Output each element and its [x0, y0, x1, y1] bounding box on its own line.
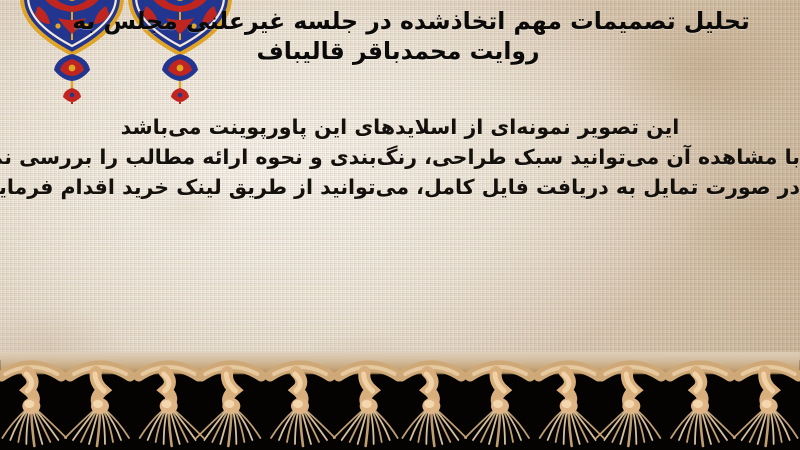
title-line-1: تحلیل تصمیمات مهم اتخاذشده در جلسه غیرعل…	[2, 6, 800, 36]
slide-canvas: تحلیل تصمیمات مهم اتخاذشده در جلسه غیرعل…	[0, 0, 800, 450]
slide-title: تحلیل تصمیمات مهم اتخاذشده در جلسه غیرعل…	[2, 6, 794, 66]
tassel-group	[0, 360, 800, 450]
slide-body: این تصویر نمونه‌ای از اسلایدهای این پاور…	[0, 112, 800, 202]
carpet-fringe	[0, 360, 800, 450]
title-line-2: روایت محمدباقر قالیباف	[2, 36, 794, 66]
body-line-2: با مشاهده آن می‌توانید سبک طراحی، رنگ‌بن…	[0, 142, 800, 172]
body-line-3: در صورت تمایل به دریافت فایل کامل، می‌تو…	[0, 172, 800, 202]
body-line-1: این تصویر نمونه‌ای از اسلایدهای این پاور…	[0, 112, 800, 142]
